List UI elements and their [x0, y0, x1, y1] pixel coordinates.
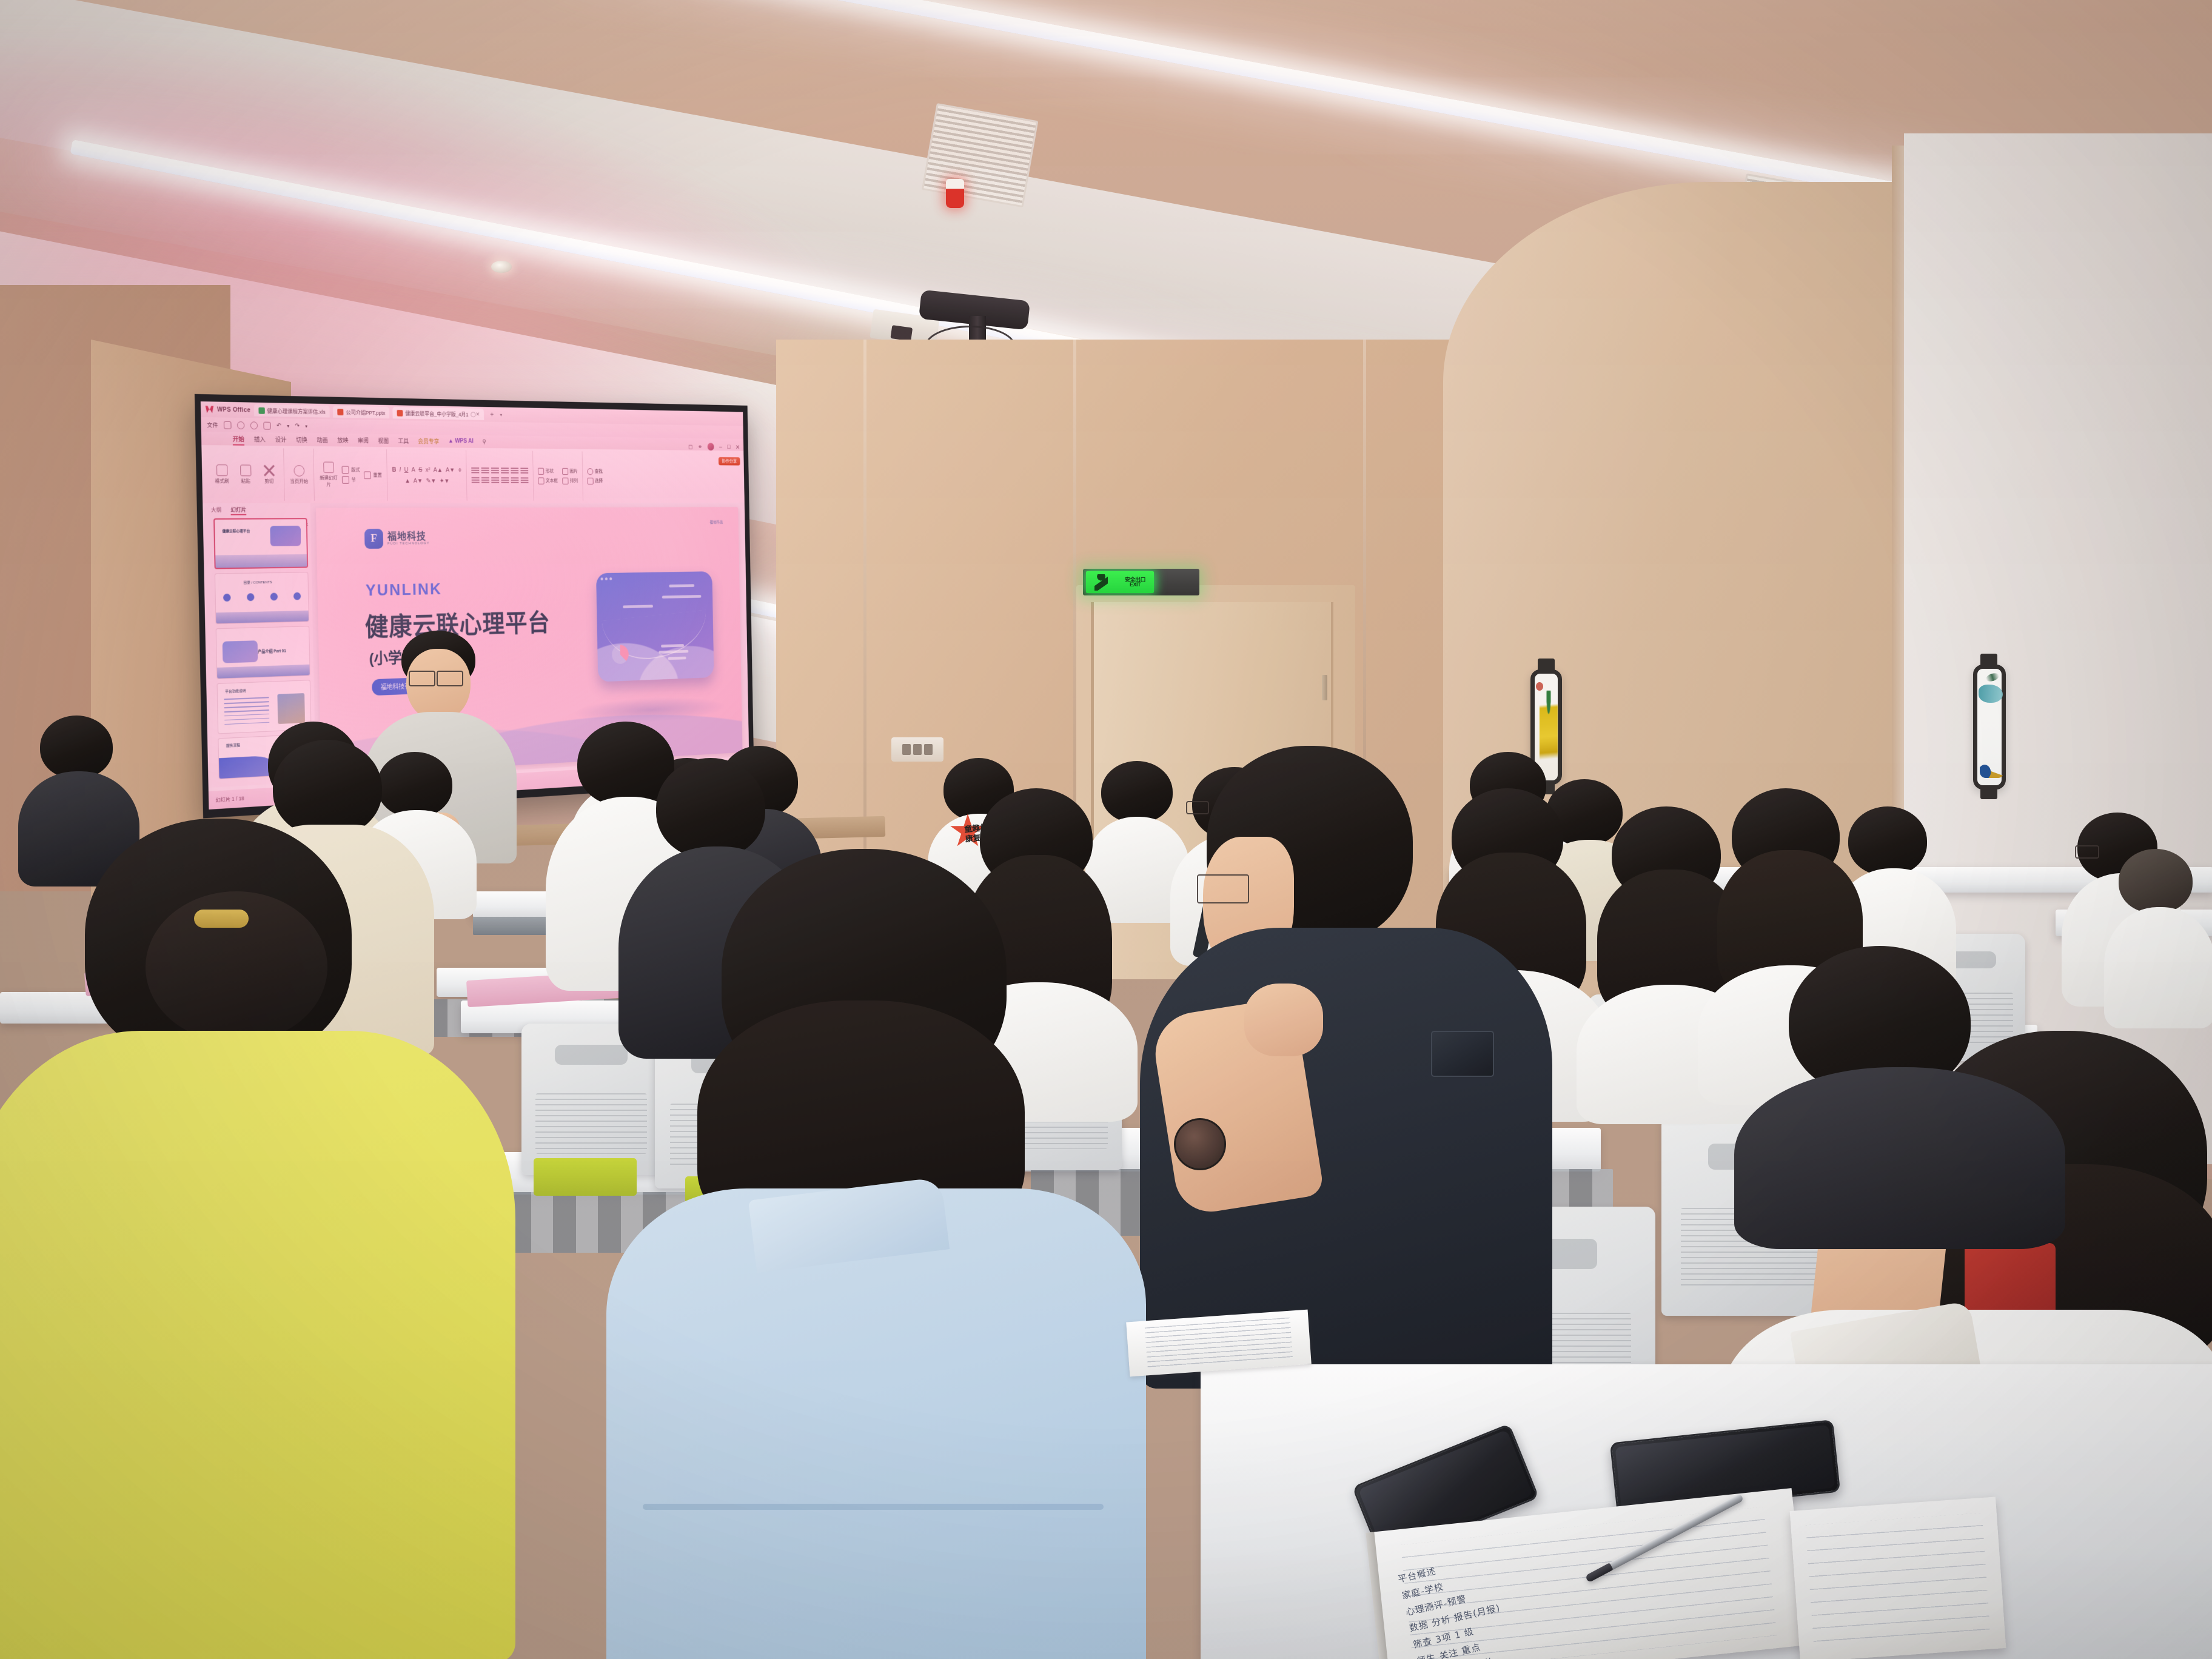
- line-spacing-icon[interactable]: [511, 468, 518, 474]
- layout-icon: [342, 466, 349, 474]
- strike-button[interactable]: S: [418, 466, 422, 474]
- art-hanger-1: [1538, 659, 1555, 672]
- comment-icon[interactable]: ◻: [688, 443, 692, 450]
- ribbon-group-font: B I U A S x² A▲ A▼ ⌽ ▲ A▼: [387, 449, 468, 501]
- scissors-icon: [263, 464, 274, 476]
- section-icon: [342, 476, 349, 484]
- hair-tie: [194, 910, 249, 928]
- thumb-1-art: [270, 526, 301, 546]
- notebook-right-page: [1790, 1496, 2006, 1659]
- align-left-icon[interactable]: [472, 477, 480, 484]
- glasses-icon-man-navy: [1197, 874, 1249, 903]
- ribbon-group-paragraph: [466, 450, 534, 500]
- thumb-1-footer: [215, 554, 307, 568]
- art-hanger-4: [1980, 786, 1997, 799]
- audience-far-right-2: [2104, 849, 2212, 1019]
- art-wave: [1980, 749, 2004, 778]
- spreadsheet-icon: [258, 407, 265, 414]
- arrange-icon: [562, 477, 568, 484]
- ribbon-tab-slideshow[interactable]: 放映: [337, 435, 349, 445]
- cut-label: 剪切: [264, 478, 273, 484]
- thumb-2-title: 目录 / CONTENTS: [243, 579, 272, 585]
- find-icon: [587, 468, 593, 475]
- new-slide-label: 新建幻灯片: [319, 475, 338, 488]
- doc-tab-2-label: 健康云联平台_中小学版_4月1: [405, 409, 468, 418]
- thumb-2-footer: [216, 611, 309, 623]
- menu-file-button[interactable]: 文件: [207, 420, 218, 429]
- minimize-button[interactable]: –: [719, 443, 722, 450]
- maximize-button[interactable]: □: [727, 444, 730, 451]
- slide-layout-controls: 版式 节: [342, 466, 361, 484]
- distribute-icon[interactable]: [511, 477, 519, 484]
- downlight-icon-6: [491, 261, 512, 273]
- illustration-window-dots: [600, 577, 612, 580]
- presentation-icon-2: [397, 409, 403, 416]
- ribbon-group-slideshow: 当页开始: [284, 448, 315, 501]
- select-button[interactable]: 选择: [588, 477, 603, 484]
- font-color-button[interactable]: A: [412, 466, 415, 474]
- text-highlight-icon[interactable]: ▲: [404, 477, 410, 484]
- align-justify-icon[interactable]: [501, 477, 509, 484]
- grow-font-icon[interactable]: A▲: [434, 467, 443, 474]
- decrease-indent-icon[interactable]: [491, 468, 499, 474]
- man-navy-polo: [1140, 746, 1552, 1389]
- text-direction-icon[interactable]: [520, 468, 528, 474]
- reset-label: 重置: [373, 472, 382, 478]
- cut-button[interactable]: 剪切: [259, 464, 279, 484]
- numbering-icon[interactable]: [481, 468, 489, 474]
- wps-ribbon: 格式刷 粘贴 剪切 当页: [201, 445, 745, 503]
- fire-alarm-icon-1: [946, 179, 964, 208]
- clear-format-icon[interactable]: ⌽: [458, 466, 461, 474]
- tab-close-icon[interactable]: ◯✕: [471, 411, 480, 418]
- slide-thumbnail-3[interactable]: 3 产品介绍 Part 01: [216, 626, 310, 679]
- align-center-icon[interactable]: [481, 477, 489, 484]
- woman-blue-shirt: [606, 849, 1140, 1659]
- underline-button[interactable]: U: [404, 466, 409, 474]
- drawing-buttons: 形状 图片 文本框 排: [538, 468, 578, 484]
- print-preview-icon[interactable]: [263, 421, 270, 429]
- section-button[interactable]: 节: [342, 476, 360, 484]
- font-extra-row: ▲ A▼ ✎▼ ✦▼: [404, 477, 449, 484]
- ribbon-group-editing: 查找 选择: [582, 451, 608, 500]
- ai-sparkle-icon: ▲: [448, 438, 454, 444]
- art-hanger-3: [1980, 654, 1997, 667]
- doc-tab-1-label: 公司介绍PPT.pptx: [346, 408, 385, 417]
- wps-app-name: WPS Office: [217, 406, 250, 414]
- picture-label: 图片: [569, 468, 577, 474]
- chevron-down-icon[interactable]: ▾: [500, 412, 503, 418]
- start-from-current-button[interactable]: 当页开始: [289, 464, 309, 484]
- slide-corner-note: 福地科技: [709, 520, 723, 525]
- redo-dropdown-icon[interactable]: ▾: [305, 423, 307, 429]
- wps-logo-icon: [206, 406, 214, 413]
- paste-label: 粘贴: [241, 478, 250, 484]
- exit-sign: 安全出口 EXIT: [1083, 569, 1199, 595]
- start-from-current-label: 当页开始: [290, 478, 308, 484]
- bird-icon: [1985, 672, 2000, 683]
- align-right-icon[interactable]: [491, 477, 499, 484]
- woman-yellow-garment: [0, 1031, 515, 1659]
- man-navy-hand: [1244, 984, 1323, 1056]
- share-button[interactable]: 协作分享: [719, 457, 740, 466]
- select-icon: [588, 477, 594, 484]
- new-slide-icon: [323, 461, 334, 473]
- doc-tab-1[interactable]: 公司介绍PPT.pptx: [333, 406, 389, 418]
- slide-eyebrow: YUNLINK: [366, 580, 443, 600]
- brand-name-cn: 福地科技: [387, 532, 430, 543]
- text-effects-icon[interactable]: ✦▼: [440, 477, 450, 484]
- format-painter-icon: [216, 464, 227, 476]
- save-icon[interactable]: [224, 421, 232, 429]
- woman-yellow-top: [0, 819, 509, 1659]
- reset-icon: [364, 471, 371, 479]
- ribbon-tab-view[interactable]: 视图: [378, 435, 389, 446]
- woman-blue-garment: [606, 1188, 1146, 1659]
- editing-buttons: 查找 选择: [587, 468, 603, 484]
- arrange-button[interactable]: 排列: [562, 477, 578, 484]
- section-label: 节: [351, 477, 355, 483]
- wall-art-landscape-panel: [1973, 665, 2006, 789]
- font-style-row: B I U A S x² A▲ A▼ ⌽: [392, 466, 461, 474]
- new-tab-button[interactable]: +: [487, 411, 497, 418]
- presentation-icon: [338, 409, 344, 415]
- print-icon[interactable]: [250, 421, 258, 429]
- close-button[interactable]: ✕: [736, 443, 740, 451]
- paragraph-row-1: [471, 467, 528, 474]
- find-label: 查找: [595, 468, 603, 474]
- ribbon-tab-tools[interactable]: 工具: [398, 436, 409, 446]
- glasses-icon-left: [409, 671, 435, 686]
- wps-ai-label: WPS AI: [455, 438, 474, 444]
- exit-label-en: EXIT: [1130, 582, 1141, 587]
- arrange-label: 排列: [570, 478, 578, 484]
- shading-icon[interactable]: ✎▼: [426, 477, 436, 484]
- italic-button[interactable]: I: [400, 466, 401, 474]
- picture-button[interactable]: 图片: [562, 468, 578, 474]
- ribbon-tab-home[interactable]: 开始: [233, 434, 244, 444]
- textbox-label: 文本框: [546, 478, 558, 484]
- layout-button[interactable]: 版式: [342, 466, 360, 474]
- thumb-3-title: 产品介绍 Part 01: [258, 648, 286, 654]
- avatar[interactable]: [708, 443, 714, 451]
- select-label: 选择: [595, 478, 603, 484]
- new-slide-button[interactable]: 新建幻灯片: [319, 461, 338, 488]
- outline-tab-strip: 大纲 幻灯片: [203, 503, 310, 517]
- layout-label: 版式: [351, 467, 360, 474]
- ac-vent-icon: [922, 103, 1039, 207]
- share-icon[interactable]: ⚭: [698, 443, 702, 451]
- bold-button[interactable]: B: [392, 466, 397, 474]
- bullets-icon[interactable]: [471, 467, 479, 474]
- slide-thumbnail-2[interactable]: 2 目录 / CONTENTS: [215, 572, 309, 624]
- shapes-label: 形状: [546, 468, 554, 474]
- slide-logo: F 福地科技 FUDI TECHNOLOGY: [364, 529, 430, 549]
- brand-text: 福地科技 FUDI TECHNOLOGY: [387, 532, 430, 546]
- glasses-icon-right: [437, 671, 463, 686]
- notebook-right-lines: [1805, 1513, 1991, 1649]
- cloud-sync-icon[interactable]: [237, 421, 245, 429]
- slide-thumbnail-1[interactable]: 1 健康云联心理平台: [213, 518, 308, 569]
- shrink-font-icon[interactable]: A▼: [446, 467, 455, 474]
- textbox-icon: [538, 477, 544, 484]
- polo-chest-patch: [1431, 1031, 1494, 1077]
- ribbon-group-drawing: 形状 图片 文本框 排: [533, 451, 583, 501]
- redo-icon[interactable]: ↷: [295, 423, 300, 429]
- ribbon-tab-member[interactable]: 会员专享: [418, 436, 439, 446]
- columns-icon[interactable]: [521, 477, 529, 484]
- picture-icon: [562, 468, 568, 474]
- search-icon[interactable]: ⚲: [482, 438, 486, 444]
- superscript-icon[interactable]: x²: [426, 466, 431, 473]
- reset-button[interactable]: 重置: [364, 471, 382, 479]
- wps-ai-button[interactable]: ▲ WPS AI: [448, 438, 474, 446]
- wristwatch: [1174, 1118, 1226, 1170]
- paragraph-row-2: [472, 477, 529, 484]
- running-man-icon: [1094, 574, 1108, 591]
- font-color-swatch-icon[interactable]: A▼: [414, 477, 423, 484]
- ribbon-tab-transitions[interactable]: 切换: [296, 435, 307, 445]
- art-red-accent: [1536, 682, 1543, 691]
- play-icon: [293, 465, 304, 477]
- ribbon-group-clipboard: 格式刷 粘贴 剪切: [206, 447, 285, 501]
- thumb-4-photo: [277, 693, 305, 723]
- classroom-photo-scene: 安全出口 EXIT WPS Office: [0, 0, 2212, 1659]
- ribbon-group-slides: 新建幻灯片 版式 节: [313, 449, 387, 501]
- slide-illustration: [596, 571, 714, 682]
- paste-icon: [240, 464, 251, 476]
- audience-black-right-fg: [1734, 946, 2062, 1225]
- ribbon-tab-insert[interactable]: 插入: [254, 434, 266, 444]
- shapes-button[interactable]: 形状: [538, 468, 558, 474]
- thumb-3-art: [222, 641, 258, 664]
- paste-button[interactable]: 粘贴: [235, 464, 255, 484]
- textbox-button[interactable]: 文本框: [538, 477, 558, 484]
- blue-shirt-seam: [643, 1504, 1104, 1510]
- thumb-1-title: 健康云联心理平台: [223, 528, 250, 534]
- doc-tab-0-label: 健康心理课程方案评估.xls: [267, 407, 325, 415]
- door-hinge-icon-1: [1322, 675, 1327, 700]
- thumb-2-items: [223, 592, 301, 602]
- shapes-icon: [538, 468, 544, 474]
- format-painter-label: 格式刷: [215, 478, 229, 484]
- ribbon-tab-review[interactable]: 审阅: [358, 435, 369, 446]
- doc-tab-0[interactable]: 健康心理课程方案评估.xls: [254, 404, 330, 418]
- increase-indent-icon[interactable]: [501, 468, 509, 474]
- thumb-3-footer: [217, 665, 310, 679]
- art-teal-cloud: [1979, 685, 2003, 703]
- format-painter-button[interactable]: 格式刷: [212, 464, 232, 484]
- thumb-4-title: 平台功能说明: [225, 688, 246, 694]
- tab-outline[interactable]: 大纲: [211, 506, 222, 515]
- glasses-icon-far-right: [2075, 845, 2099, 859]
- undo-icon[interactable]: ↶: [276, 422, 281, 429]
- ribbon-tab-design[interactable]: 设计: [275, 434, 287, 444]
- ribbon-tab-animations[interactable]: 动画: [317, 435, 328, 445]
- tab-slides[interactable]: 幻灯片: [230, 506, 246, 515]
- fudi-logo-icon: F: [364, 529, 383, 549]
- undo-dropdown-icon[interactable]: ▾: [287, 423, 289, 429]
- window-controls: ◻ ⚭ – □ ✕: [688, 443, 740, 451]
- doc-tab-2[interactable]: 健康云联平台_中小学版_4月1 ◯✕: [393, 407, 484, 420]
- exit-sign-panel: 安全出口 EXIT: [1086, 571, 1154, 593]
- find-button[interactable]: 查找: [587, 468, 603, 475]
- brand-name-en: FUDI TECHNOLOGY: [387, 542, 430, 546]
